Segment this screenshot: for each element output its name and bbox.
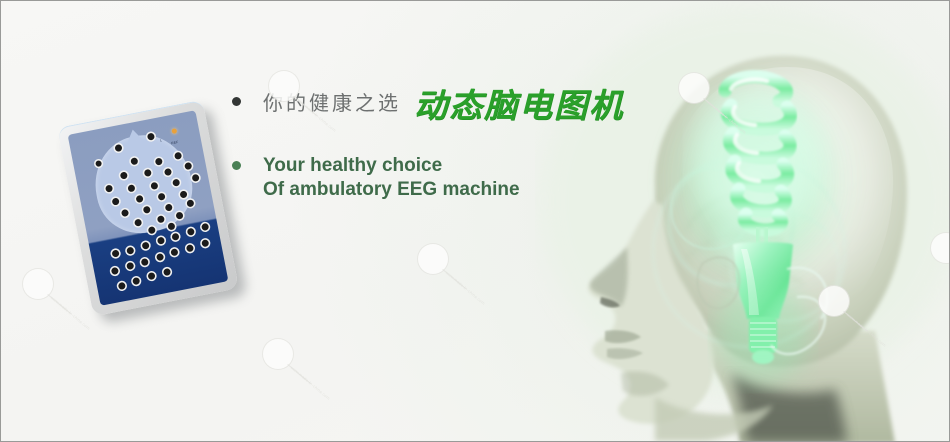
english-line-1: Your healthy choice	[263, 155, 442, 176]
chinese-product-name: 动态脑电图机	[414, 79, 624, 127]
watermark-lens	[263, 339, 293, 369]
watermark-lens	[23, 269, 53, 299]
watermark-caption: www.made-in-china.com	[445, 270, 486, 306]
watermark-handle	[442, 269, 466, 289]
bullet-dark-icon	[232, 97, 241, 106]
english-line-2: Of ambulatory EEG machine	[263, 179, 520, 200]
chinese-tagline: 你的健康之选	[263, 87, 401, 116]
bullet-green-icon	[232, 161, 241, 170]
eeg-electrode-panel: L REF	[68, 110, 229, 306]
head-electrode-map	[87, 127, 200, 241]
head-with-bulb-artwork	[535, 1, 950, 442]
watermark-caption: www.made-in-china.com	[290, 365, 331, 401]
english-tagline: Your healthy choice Of ambulatory EEG ma…	[263, 154, 520, 202]
tagline-row-english: Your healthy choice Of ambulatory EEG ma…	[232, 154, 520, 202]
promo-banner: L REF	[0, 0, 950, 442]
watermark-handle	[287, 364, 311, 384]
tagline-row-chinese: 你的健康之选	[232, 87, 401, 116]
watermark-lens	[418, 244, 448, 274]
eeg-headbox-image: L REF	[64, 104, 254, 319]
eeg-headbox-body: L REF	[57, 100, 239, 317]
power-led	[171, 128, 177, 134]
